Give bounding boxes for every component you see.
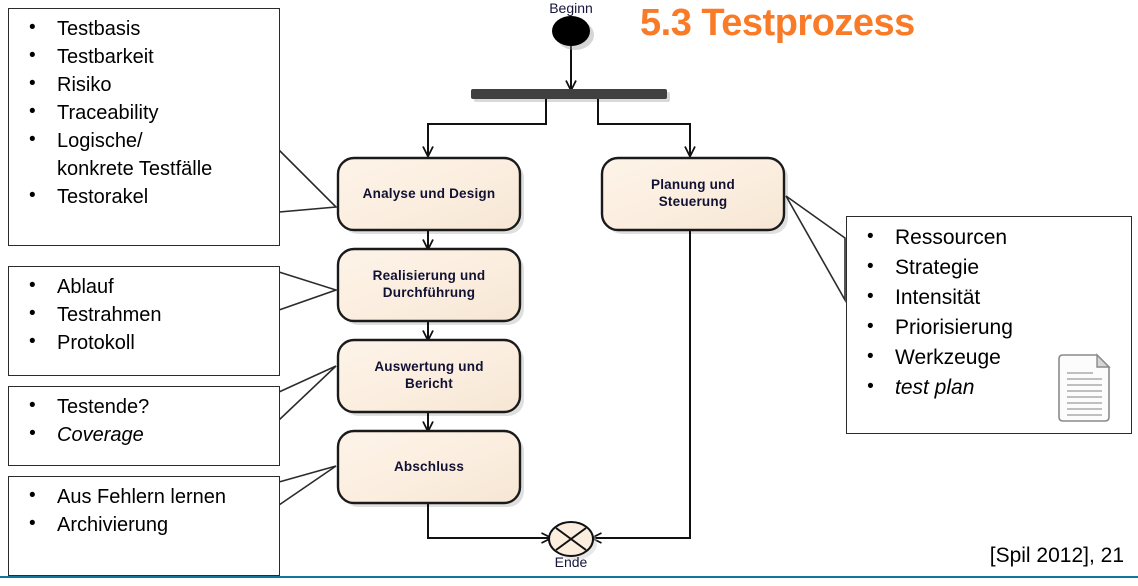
list-item: Coverage bbox=[17, 421, 275, 449]
tail-planung bbox=[786, 196, 845, 300]
end-node-label: Ende bbox=[521, 554, 621, 570]
note-abschluss: Aus Fehlern lernen Archivierung bbox=[8, 476, 280, 576]
list-item: Aus Fehlern lernen bbox=[17, 483, 275, 511]
list-item: Traceability bbox=[17, 99, 275, 127]
list-item: Logische/ bbox=[17, 127, 275, 155]
list-item: Testorakel bbox=[17, 183, 275, 211]
list-item: Ressourcen bbox=[855, 223, 1127, 253]
list-item-continuation: konkrete Testfälle bbox=[17, 155, 275, 183]
tail-abschluss bbox=[279, 466, 336, 505]
list-item: Testende? bbox=[17, 393, 275, 421]
activity-node-auswert bbox=[338, 340, 520, 412]
list-item: Intensität bbox=[855, 283, 1127, 313]
list-item: Strategie bbox=[855, 253, 1127, 283]
activity-node-planung bbox=[602, 158, 784, 230]
list-item: Ablauf bbox=[17, 273, 275, 301]
slide-root: 5.3 Testprozess bbox=[0, 0, 1138, 586]
activity-node-realis bbox=[338, 249, 520, 321]
tail-realis bbox=[279, 272, 336, 310]
activity-nodes bbox=[338, 158, 784, 503]
edge-fork-to-planung bbox=[598, 98, 690, 156]
tail-auswert bbox=[279, 366, 336, 420]
fork-bar bbox=[471, 89, 667, 99]
activity-node-analyse bbox=[338, 158, 520, 230]
footer-divider bbox=[0, 576, 1138, 578]
list-item: Testbasis bbox=[17, 15, 275, 43]
note-auswertung-und-bericht: Testende? Coverage bbox=[8, 386, 280, 466]
list-item: Risiko bbox=[17, 71, 275, 99]
activity-node-abschluss bbox=[338, 431, 520, 503]
start-node-label: Beginn bbox=[521, 0, 621, 16]
edge-planung-to-ende bbox=[592, 228, 690, 538]
list-item: Protokoll bbox=[17, 329, 275, 357]
note-planung-und-steuerung: Ressourcen Strategie Intensität Priorisi… bbox=[846, 216, 1132, 434]
note-realisierung-und-durchfuehrung: Ablauf Testrahmen Protokoll bbox=[8, 266, 280, 376]
initial-node bbox=[552, 16, 590, 46]
note-analyse-und-design: Testbasis Testbarkeit Risiko Traceabilit… bbox=[8, 8, 280, 246]
list-item: Archivierung bbox=[17, 511, 275, 539]
list-item: Testrahmen bbox=[17, 301, 275, 329]
list-item: Testbarkeit bbox=[17, 43, 275, 71]
source-citation: [Spil 2012], 21 bbox=[990, 544, 1124, 568]
list-item: Priorisierung bbox=[855, 313, 1127, 343]
edge-fork-to-analyse bbox=[428, 98, 546, 156]
document-icon bbox=[1055, 353, 1113, 425]
tail-analyse bbox=[279, 150, 336, 212]
